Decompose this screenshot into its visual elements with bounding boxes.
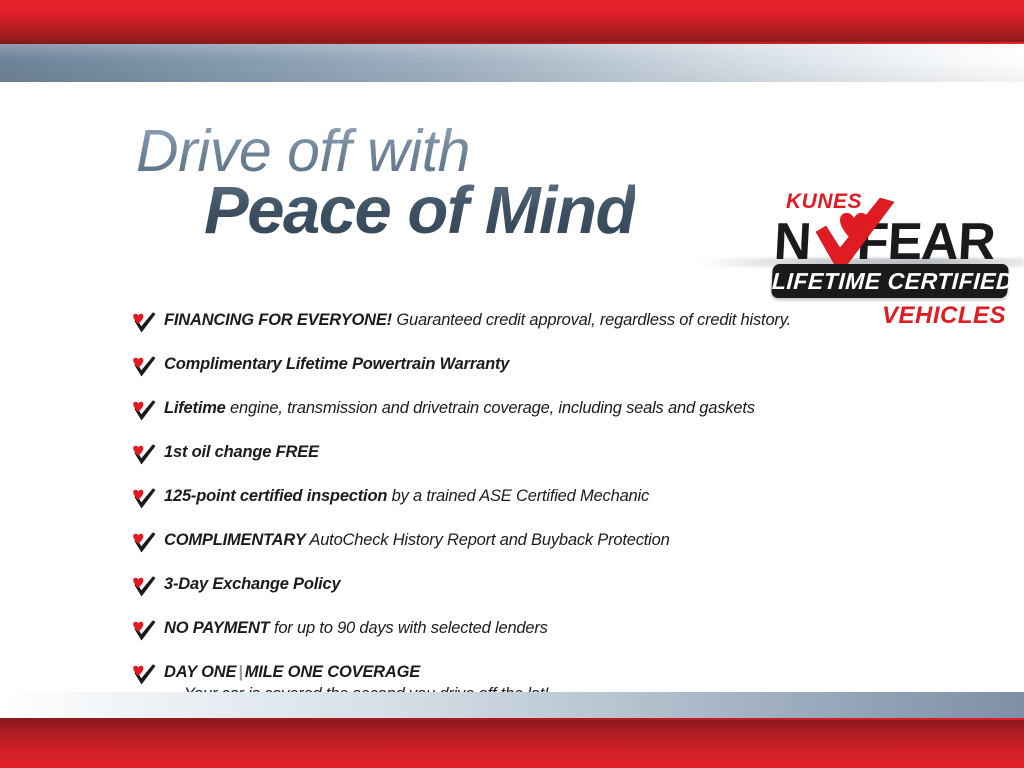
heart-check-icon (132, 312, 157, 334)
list-item-text: 3-Day Exchange Policy (164, 574, 952, 594)
list-item: 1st oil change FREE (132, 442, 952, 474)
list-item: Complimentary Lifetime Powertrain Warran… (132, 354, 952, 386)
benefits-list: FINANCING FOR EVERYONE! Guaranteed credi… (132, 310, 952, 704)
header-area: Drive off with Peace of Mind KUNES NFEAR… (0, 82, 1024, 267)
list-item-lead: COMPLIMENTARY (164, 531, 306, 549)
list-item-rest: for up to 90 days with selected lenders (270, 619, 548, 637)
top-red-band (0, 0, 1024, 42)
list-item-lead: 1st oil change FREE (164, 443, 319, 461)
list-item-text: 1st oil change FREE (164, 442, 952, 462)
heart-check-icon (132, 444, 157, 466)
bottom-red-band (0, 720, 1024, 768)
heart-check-icon (132, 576, 157, 598)
logo-lifetime-certified-bar: LIFETIME CERTIFIED (771, 264, 1009, 298)
list-item-text: NO PAYMENT for up to 90 days with select… (164, 618, 952, 638)
headline-line-1: Drive off with (136, 124, 635, 178)
list-item-text: DAY ONE|MILE ONE COVERAGE (164, 662, 952, 682)
heart-check-icon (132, 532, 157, 554)
bottom-blue-band (0, 692, 1024, 720)
logo-lifetime-certified-text: LIFETIME CERTIFIED (771, 264, 1009, 298)
list-item-rest: engine, transmission and drivetrain cove… (226, 399, 755, 417)
heart-check-icon (132, 488, 157, 510)
heart-check-icon (132, 664, 157, 686)
list-item: FINANCING FOR EVERYONE! Guaranteed credi… (132, 310, 952, 342)
list-item-lead: NO PAYMENT (164, 619, 270, 637)
list-item: 125-point certified inspection by a trai… (132, 486, 952, 518)
heart-check-icon (132, 400, 157, 422)
list-item-lead: FINANCING FOR EVERYONE! (164, 311, 392, 329)
list-item-lead: Lifetime (164, 399, 226, 417)
list-item-lead: 3-Day Exchange Policy (164, 575, 340, 593)
list-item-rest: AutoCheck History Report and Buyback Pro… (306, 531, 670, 549)
logo-letter-n: N (772, 212, 812, 272)
list-item: 3-Day Exchange Policy (132, 574, 952, 606)
list-item-rest: by a trained ASE Certified Mechanic (387, 487, 649, 505)
list-item-lead: Complimentary Lifetime Powertrain Warran… (164, 355, 509, 373)
heart-check-icon (132, 620, 157, 642)
list-item-rest: Guaranteed credit approval, regardless o… (392, 311, 791, 329)
list-item: Lifetime engine, transmission and drivet… (132, 398, 952, 430)
list-item-lead-a: DAY ONE (164, 663, 236, 681)
list-item: NO PAYMENT for up to 90 days with select… (132, 618, 952, 650)
top-blue-band-shading (0, 44, 1024, 82)
list-item-separator: | (236, 663, 244, 681)
list-item-text: COMPLIMENTARY AutoCheck History Report a… (164, 530, 952, 550)
heart-check-icon (132, 356, 157, 378)
promo-banner-page: Drive off with Peace of Mind KUNES NFEAR… (0, 0, 1024, 768)
list-item: COMPLIMENTARY AutoCheck History Report a… (132, 530, 952, 562)
list-item-text: 125-point certified inspection by a trai… (164, 486, 952, 506)
kunes-no-fear-logo: KUNES NFEAR LIFETIME CERTIFIED VEHICLES (766, 190, 1014, 328)
list-item-lead-b: MILE ONE COVERAGE (245, 663, 420, 681)
list-item-text: Complimentary Lifetime Powertrain Warran… (164, 354, 952, 374)
list-item-lead: 125-point certified inspection (164, 487, 387, 505)
headline-line-2: Peace of Mind (204, 180, 635, 242)
list-item-text: Lifetime engine, transmission and drivet… (164, 398, 952, 418)
page-title: Drive off with Peace of Mind (136, 124, 635, 242)
list-item-text: FINANCING FOR EVERYONE! Guaranteed credi… (164, 310, 952, 330)
